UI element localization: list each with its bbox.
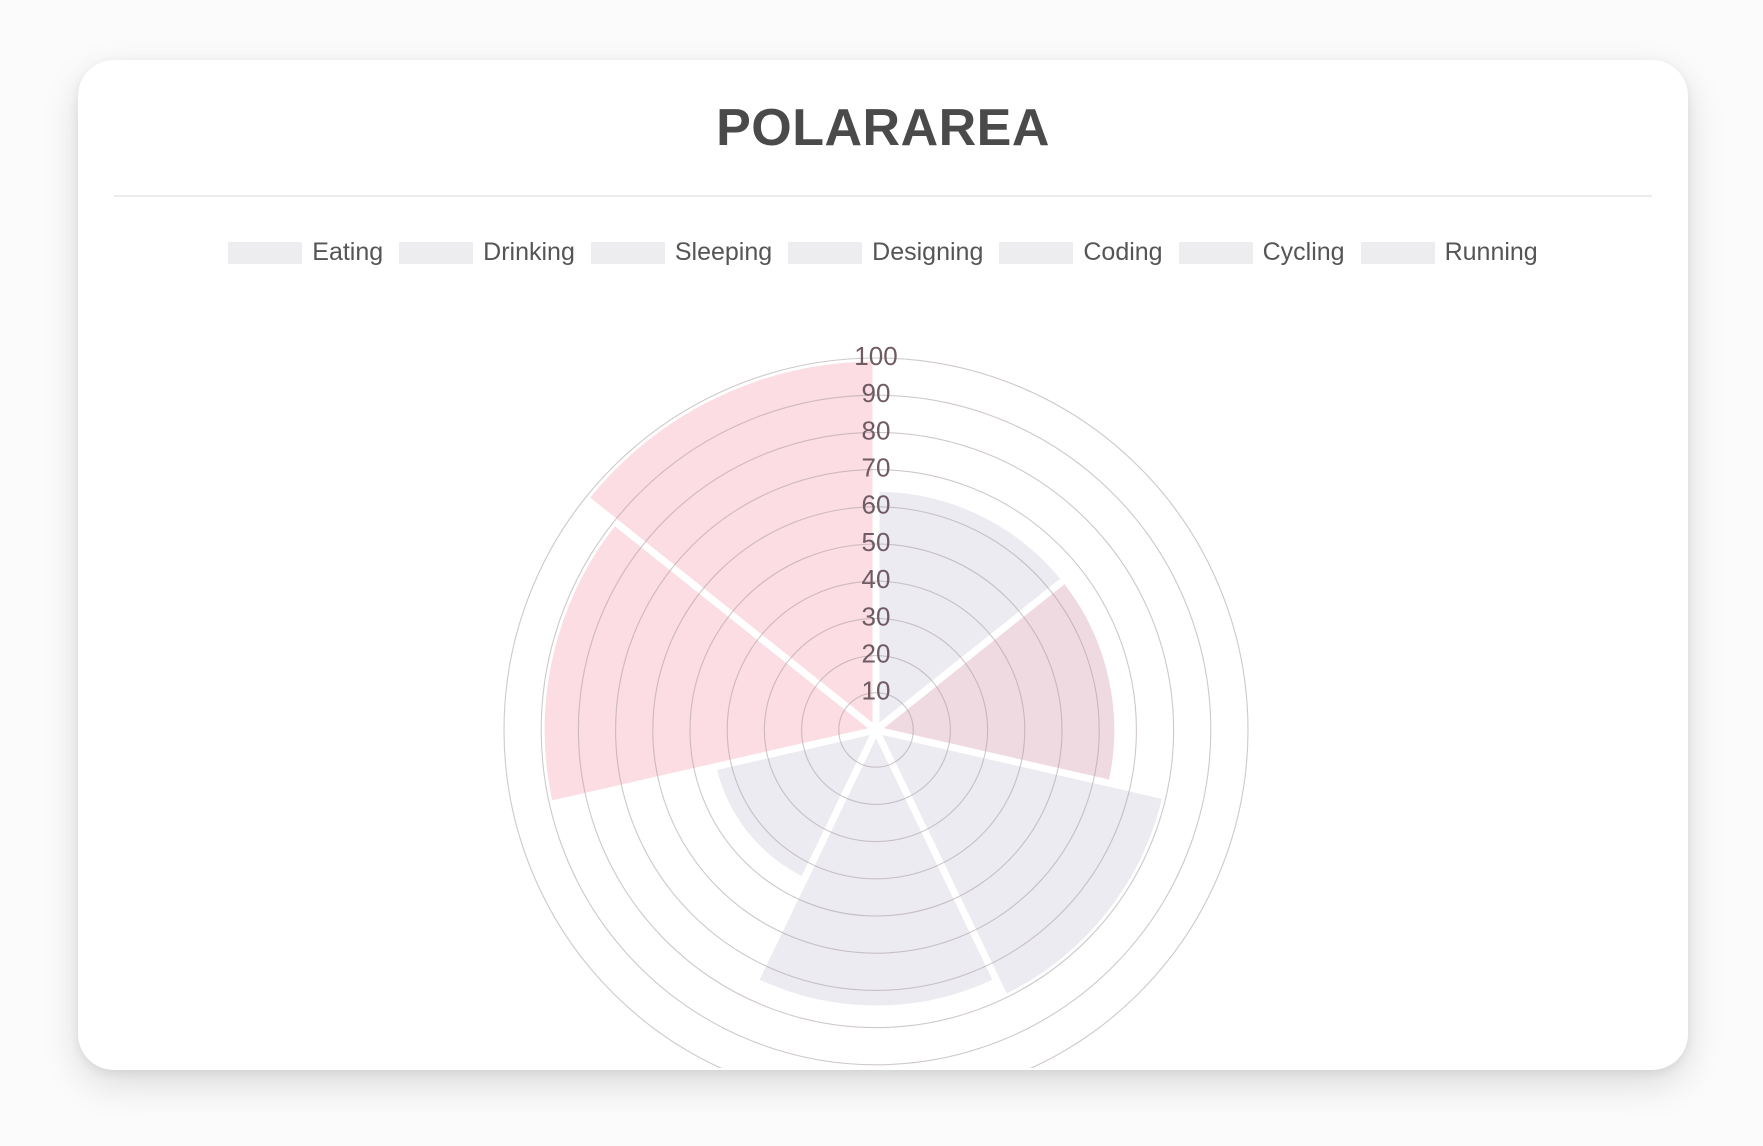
radial-tick-label: 80 bbox=[862, 415, 891, 445]
radial-tick-label: 30 bbox=[862, 601, 891, 631]
radial-tick-label: 20 bbox=[862, 638, 891, 668]
radial-tick-label: 50 bbox=[862, 527, 891, 557]
radial-tick-label: 40 bbox=[862, 564, 891, 594]
radial-tick-label: 90 bbox=[862, 378, 891, 408]
radial-tick-label: 70 bbox=[862, 452, 891, 482]
polar-chart-svg: 102030405060708090100 bbox=[78, 256, 1688, 1068]
screen: POLARAREA EatingDrinkingSleepingDesignin… bbox=[0, 0, 1763, 1146]
radial-tick-label: 100 bbox=[854, 341, 897, 371]
radial-tick-label: 10 bbox=[862, 676, 891, 706]
page-title: POLARAREA bbox=[78, 98, 1688, 158]
polar-area-chart: 102030405060708090100 bbox=[78, 256, 1688, 1068]
header-divider bbox=[114, 195, 1652, 197]
chart-card: POLARAREA EatingDrinkingSleepingDesignin… bbox=[78, 60, 1688, 1070]
radial-tick-label: 60 bbox=[862, 490, 891, 520]
